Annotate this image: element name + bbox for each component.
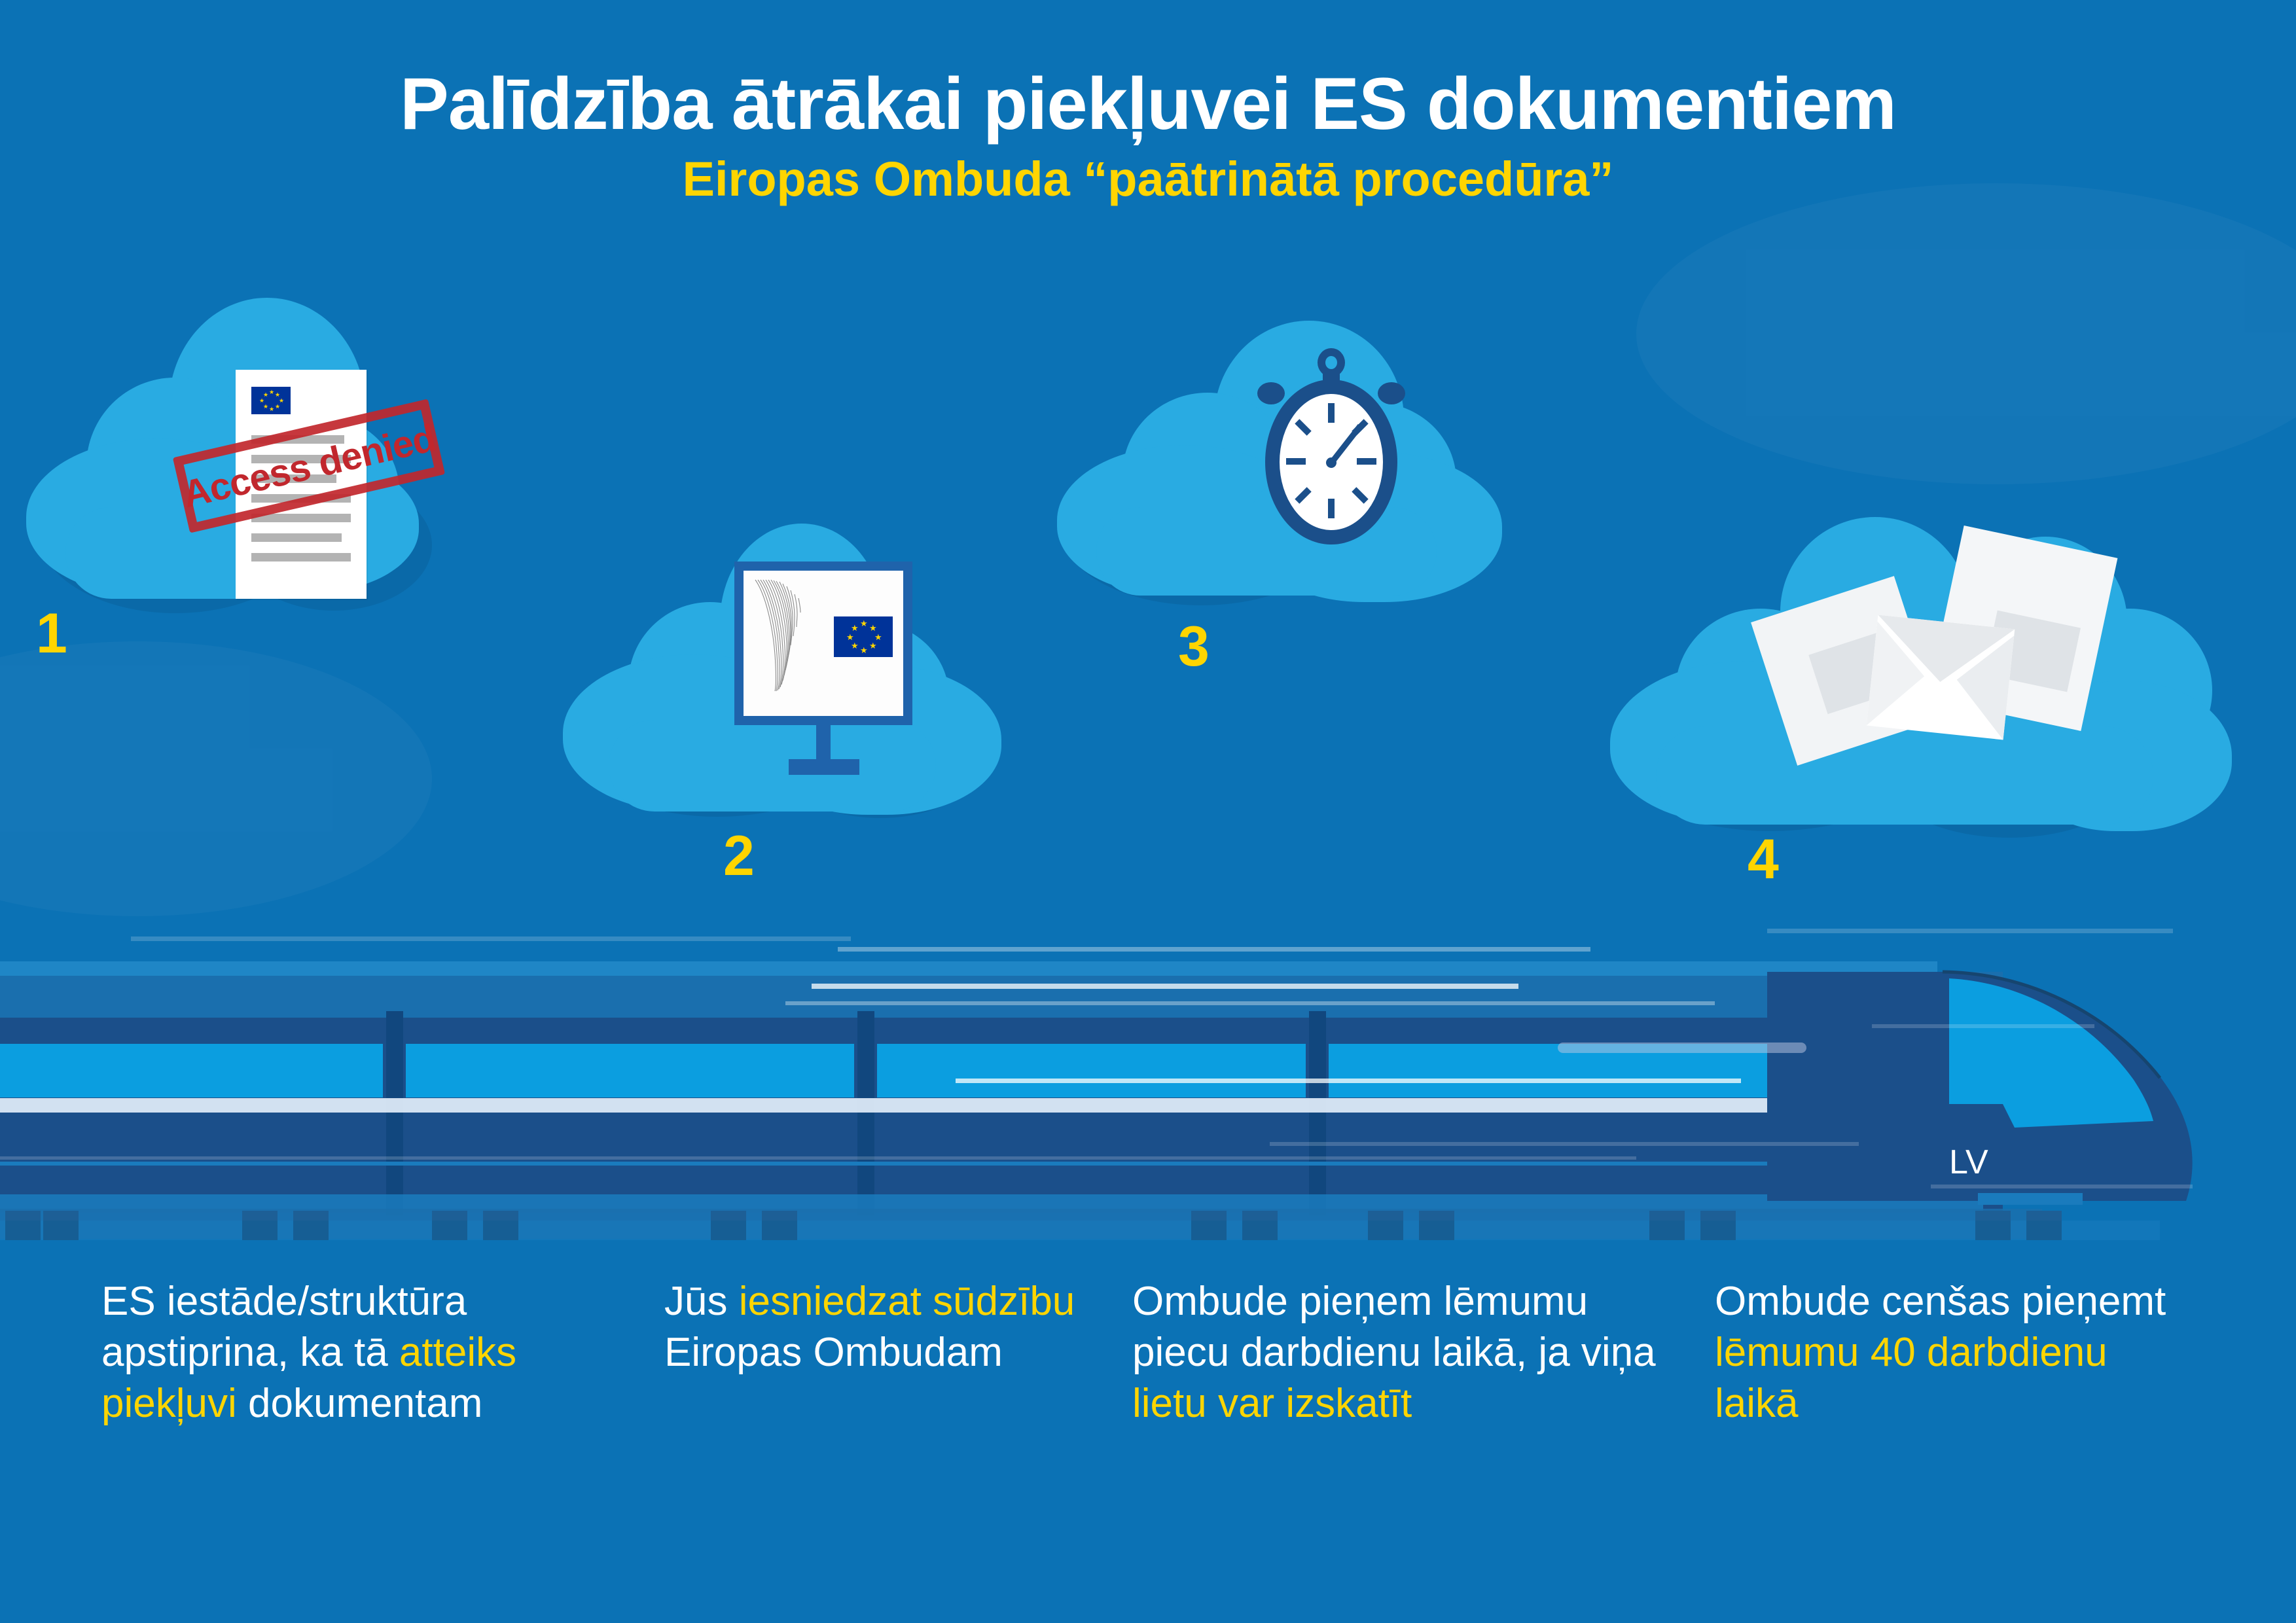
step-2-cloud: ★ ★ ★ ★ ★ ★ ★ ★ 2 [556, 524, 1132, 838]
caption-text: dokumentam [237, 1381, 483, 1426]
step-1-caption: ES iestāde/struktūra apstiprina, ka tā a… [101, 1276, 619, 1429]
caption-highlight: lietu var izskatīt [1132, 1381, 1412, 1426]
step-number-3: 3 [1178, 618, 1210, 675]
step-3-caption: Ombude pieņem lēmumu piecu darbdienu lai… [1132, 1276, 1656, 1429]
page-title: Palīdzība ātrākai piekļuvei ES dokumenti… [0, 65, 2296, 143]
eu-flag-icon: ★ ★ ★ ★ ★ ★ ★ ★ [834, 616, 893, 657]
background-tint [1636, 183, 2296, 484]
monitor-stand [816, 725, 831, 759]
high-speed-train-illustration: LV [0, 913, 2296, 1240]
monitor-ombudsman-icon: ★ ★ ★ ★ ★ ★ ★ ★ [734, 562, 912, 725]
train-label: LV [1949, 1145, 1988, 1179]
stopwatch-icon [1259, 348, 1404, 544]
caption-text: Ombude pieņem lēmumu piecu darbdienu lai… [1132, 1279, 1656, 1375]
caption-text: Jūs [664, 1279, 739, 1324]
background-tint [0, 641, 432, 916]
step-captions: ES iestāde/struktūra apstiprina, ka tā a… [0, 1276, 2296, 1429]
caption-highlight: lēmumu 40 darbdienu laikā [1715, 1330, 2108, 1426]
caption-highlight: iesniedzat sūdzību [739, 1279, 1075, 1324]
step-number-4: 4 [1748, 831, 1779, 887]
step-number-2: 2 [723, 828, 755, 884]
step-1-cloud: ★ ★ ★ ★ ★ ★ ★ ★ Access denied 1 [26, 298, 589, 625]
caption-text: Ombude cenšas pieņemt [1715, 1279, 2166, 1324]
monitor-base [789, 759, 859, 775]
step-4-caption: Ombude cenšas pieņemt lēmumu 40 darbdien… [1715, 1276, 2173, 1429]
step-2-caption: Jūs iesniedzat sūdzību Eiropas Ombudam [664, 1276, 1083, 1429]
header: Palīdzība ātrākai piekļuvei ES dokumenti… [0, 65, 2296, 205]
eu-flag-icon: ★ ★ ★ ★ ★ ★ ★ ★ [251, 387, 291, 414]
infographic-canvas: Palīdzība ātrākai piekļuvei ES dokumenti… [0, 0, 2296, 1623]
step-4-cloud: 4 [1597, 517, 2258, 844]
step-number-1: 1 [36, 605, 67, 662]
step-3-cloud: 3 [1050, 321, 1594, 628]
ombudsman-logo-icon [753, 576, 809, 694]
caption-text: Eiropas Ombudam [664, 1330, 1003, 1375]
page-subtitle: Eiropas Ombuda “paātrinātā procedūra” [0, 152, 2296, 205]
